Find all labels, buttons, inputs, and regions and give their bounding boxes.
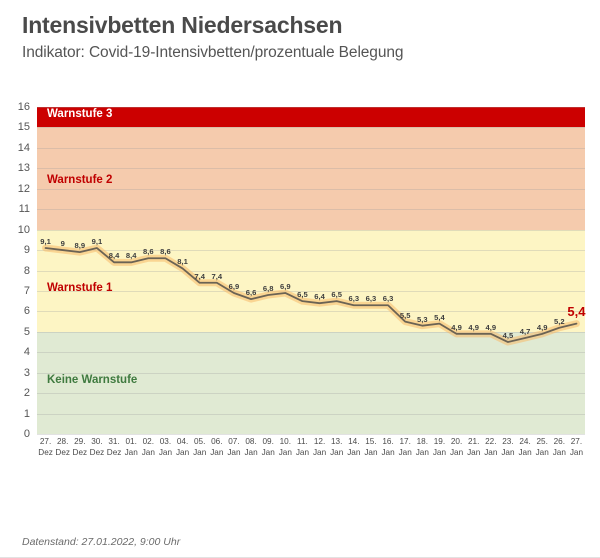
x-tick-day: 28.	[57, 437, 68, 446]
x-tick-day: 02.	[143, 437, 154, 446]
x-tick-day: 14.	[348, 437, 359, 446]
x-tick-day: 24.	[519, 437, 530, 446]
y-tick-15: 15	[4, 121, 30, 133]
y-tick-2: 2	[4, 387, 30, 399]
x-tick-day: 08.	[245, 437, 256, 446]
y-axis: 012345678910111213141516	[0, 107, 30, 434]
x-tick-day: 26.	[554, 437, 565, 446]
datenstand-footer: Datenstand: 27.01.2022, 9:00 Uhr	[22, 536, 180, 548]
y-tick-4: 4	[4, 346, 30, 358]
y-tick-14: 14	[4, 142, 30, 154]
y-tick-6: 6	[4, 305, 30, 317]
x-tick-day: 25.	[536, 437, 547, 446]
x-tick-day: 03.	[160, 437, 171, 446]
page-title: Intensivbetten Niedersachsen	[22, 12, 342, 39]
x-tick-day: 10.	[280, 437, 291, 446]
x-tick-day: 16.	[382, 437, 393, 446]
y-tick-11: 11	[4, 203, 30, 215]
x-tick-day: 13.	[331, 437, 342, 446]
x-tick-day: 04.	[177, 437, 188, 446]
x-tick-day: 11.	[297, 437, 308, 446]
y-tick-10: 10	[4, 224, 30, 236]
y-tick-9: 9	[4, 244, 30, 256]
gridline-0	[37, 434, 585, 435]
x-tick-month: Jan	[570, 448, 583, 457]
y-tick-7: 7	[4, 285, 30, 297]
data-label-10: 7,4	[206, 272, 228, 281]
data-label-8: 8,1	[172, 257, 194, 266]
x-tick-day: 12.	[314, 437, 325, 446]
y-tick-8: 8	[4, 265, 30, 277]
x-tick-day: 30.	[91, 437, 102, 446]
x-tick-day: 21.	[468, 437, 479, 446]
x-tick-day: 17.	[399, 437, 410, 446]
plot-area: Keine WarnstufeWarnstufe 1Warnstufe 2War…	[37, 107, 585, 434]
y-tick-5: 5	[4, 326, 30, 338]
x-tick-day: 19.	[434, 437, 445, 446]
page-subtitle: Indikator: Covid-19-Intensivbetten/proze…	[22, 44, 403, 62]
data-label-current: 5,4	[560, 304, 592, 319]
x-tick-day: 06.	[211, 437, 222, 446]
data-label-3: 9,1	[86, 237, 108, 246]
x-tick-day: 18.	[417, 437, 428, 446]
x-tick-day: 20.	[451, 437, 462, 446]
x-tick-day: 15.	[365, 437, 376, 446]
x-tick-31: 27.Jan	[564, 437, 588, 458]
y-tick-13: 13	[4, 162, 30, 174]
x-tick-day: 29.	[74, 437, 85, 446]
x-tick-day: 07.	[228, 437, 239, 446]
x-axis: 27.Dez28.Dez29.Dez30.Dez31.Dez01.Jan02.J…	[37, 437, 585, 471]
y-tick-12: 12	[4, 183, 30, 195]
x-tick-day: 09.	[262, 437, 273, 446]
chart-card: Intensivbetten Niedersachsen Indikator: …	[0, 0, 600, 558]
data-label-23: 5,4	[428, 313, 450, 322]
data-label-7: 8,6	[154, 247, 176, 256]
x-tick-day: 01.	[125, 437, 136, 446]
data-label-20: 6,3	[377, 294, 399, 303]
x-tick-day: 22.	[485, 437, 496, 446]
y-tick-16: 16	[4, 101, 30, 113]
data-line	[37, 107, 585, 434]
x-tick-day: 27.	[40, 437, 51, 446]
x-tick-day: 23.	[502, 437, 513, 446]
x-tick-day: 27.	[571, 437, 582, 446]
x-tick-day: 31.	[108, 437, 119, 446]
y-tick-3: 3	[4, 367, 30, 379]
x-tick-day: 05.	[194, 437, 205, 446]
y-tick-1: 1	[4, 408, 30, 420]
y-tick-0: 0	[4, 428, 30, 440]
